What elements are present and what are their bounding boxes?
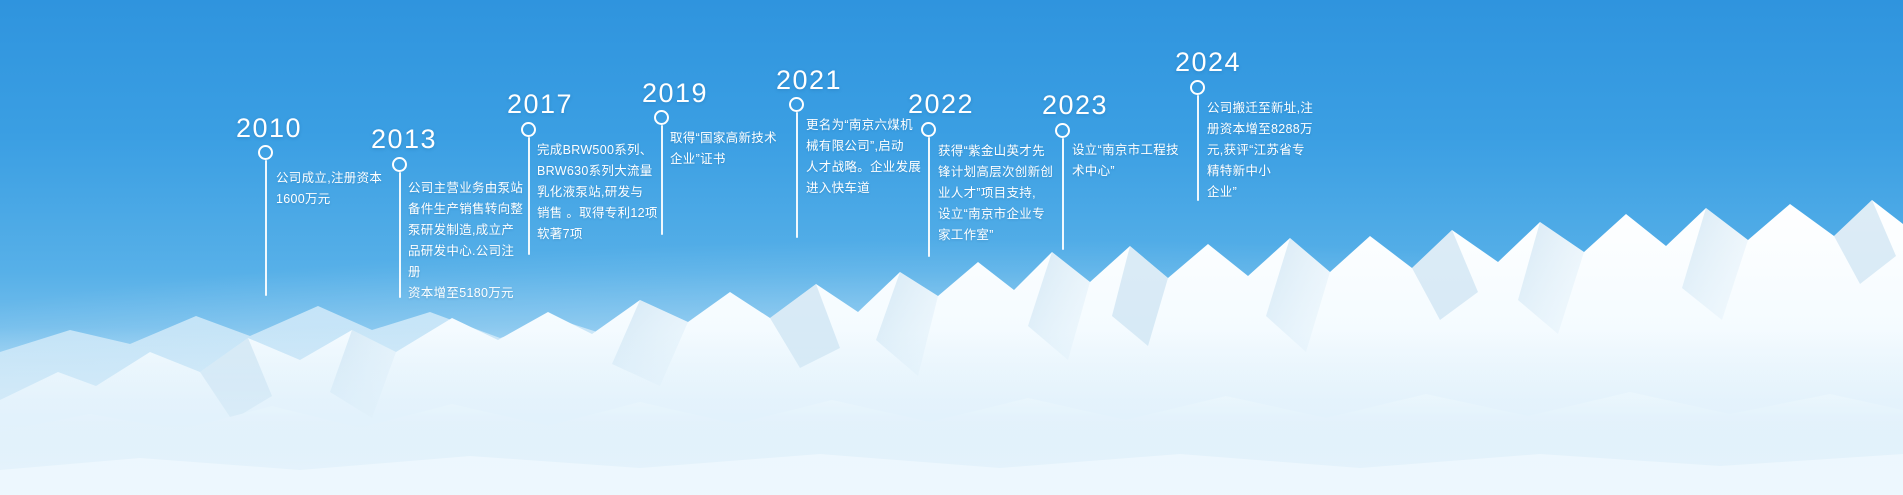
event-description-2023: 设立“南京市工程技 术中心” bbox=[1072, 140, 1192, 182]
marker-stem bbox=[265, 160, 267, 296]
event-description-2013: 公司主营业务由泵站 备件生产销售转向整 泵研发制造,成立产 品研发中心.公司注册… bbox=[408, 178, 526, 304]
marker-stem bbox=[661, 125, 663, 235]
marker-circle-icon bbox=[1055, 123, 1070, 138]
marker-circle-icon bbox=[921, 122, 936, 137]
marker-circle-icon bbox=[258, 145, 273, 160]
event-description-2021: 更名为“南京六煤机 械有限公司”,启动 人才战略。企业发展 进入快车道 bbox=[806, 115, 936, 199]
event-description-2024: 公司搬迁至新址,注 册资本增至8288万 元,获评“江苏省专 精特新中小 企业” bbox=[1207, 98, 1337, 203]
marker-stem bbox=[528, 137, 530, 255]
year-label-2023: 2023 bbox=[1042, 90, 1108, 121]
marker-circle-icon bbox=[654, 110, 669, 125]
marker-stem bbox=[399, 172, 401, 298]
timeline-track: 2010 公司成立,注册资本 1600万元 2013 公司主营业务由泵站 备件生… bbox=[0, 0, 1903, 495]
marker-circle-icon bbox=[521, 122, 536, 137]
year-label-2019: 2019 bbox=[642, 78, 708, 109]
marker-stem bbox=[796, 112, 798, 238]
marker-stem bbox=[1062, 138, 1064, 250]
year-label-2013: 2013 bbox=[371, 124, 437, 155]
marker-stem bbox=[928, 137, 930, 257]
year-label-2022: 2022 bbox=[908, 89, 974, 120]
event-description-2022: 获得“紫金山英才先 锋计划高层次创新创 业人才”项目支持, 设立“南京市企业专 … bbox=[938, 141, 1068, 246]
event-description-2017: 完成BRW500系列、 BRW630系列大流量 乳化液泵站,研发与 销售 。取得… bbox=[537, 140, 665, 245]
timeline-infographic: 2010 公司成立,注册资本 1600万元 2013 公司主营业务由泵站 备件生… bbox=[0, 0, 1903, 495]
event-description-2010: 公司成立,注册资本 1600万元 bbox=[276, 168, 426, 210]
year-label-2010: 2010 bbox=[236, 113, 302, 144]
marker-circle-icon bbox=[392, 157, 407, 172]
marker-circle-icon bbox=[789, 97, 804, 112]
marker-stem bbox=[1197, 95, 1199, 201]
year-label-2021: 2021 bbox=[776, 65, 842, 96]
year-label-2017: 2017 bbox=[507, 89, 573, 120]
year-label-2024: 2024 bbox=[1175, 47, 1241, 78]
marker-circle-icon bbox=[1190, 80, 1205, 95]
event-description-2019: 取得“国家高新技术 企业”证书 bbox=[670, 128, 800, 170]
